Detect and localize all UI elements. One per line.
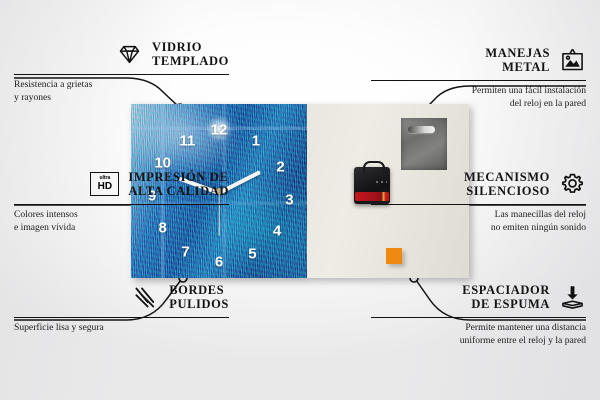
ultra-hd-icon: ultra HD (90, 172, 119, 196)
feature-title-line2: PULIDOS (169, 297, 229, 311)
clock-numeral-7: 7 (181, 244, 189, 259)
feature-bordes-pulidos: BORDES PULIDOS Superficie lisa y segura (14, 283, 229, 335)
feature-title-line2: TEMPLADO (152, 54, 229, 68)
feature-sub-line2: y rayones (14, 92, 229, 105)
divider (371, 204, 586, 206)
clock-numeral-5: 5 (248, 246, 256, 261)
clock-numeral-2: 2 (276, 159, 284, 174)
feature-title-line1: ESPACIADOR (462, 283, 550, 297)
feature-sub-line1: Permiten una fácil instalación (371, 85, 586, 98)
feature-sub-line2: del reloj en la pared (371, 98, 586, 111)
feature-title-line2: ALTA CALIDAD (128, 184, 229, 198)
picture-frame-icon (559, 47, 586, 74)
divider (371, 317, 586, 319)
feature-title-line1: MANEJAS (485, 46, 550, 60)
clock-numeral-4: 4 (273, 224, 281, 239)
feature-sub-line1: Colores intensos (14, 209, 229, 222)
feature-sub-line1: Permite mantener una distancia (371, 322, 586, 335)
feature-sub-line1: Resistencia a grietas (14, 79, 229, 92)
feature-title-line1: MECANISMO (464, 170, 550, 184)
divider (14, 317, 229, 319)
feature-espaciador-de-espuma: ESPACIADOR DE ESPUMA Permite mantener un… (371, 283, 586, 348)
feature-sub-line2: uniforme entre el reloj y la pared (371, 335, 586, 348)
diamond-icon (116, 41, 143, 68)
feature-sub-line1: Superficie lisa y segura (14, 322, 229, 335)
divider (371, 80, 586, 82)
clock-numeral-3: 3 (285, 192, 293, 207)
feature-sub-line2: e imagen vívida (14, 222, 229, 235)
feature-title-line1: IMPRESIÓN DE (128, 170, 229, 184)
feature-vidrio-templado: VIDRIO TEMPLADO Resistencia a grietas y … (14, 40, 229, 105)
feature-title-line2: SILENCIOSO (464, 184, 550, 198)
feature-title-line2: DE ESPUMA (462, 297, 550, 311)
metal-hanger-plate (401, 118, 447, 170)
clock-numeral-6: 6 (215, 255, 223, 270)
foam-spacer (386, 248, 402, 264)
feature-title-line2: METAL (485, 60, 550, 74)
clock-numeral-10: 10 (154, 156, 171, 171)
infographic-canvas: 12 1 2 3 4 5 6 7 8 9 10 11 (0, 0, 600, 400)
divider (14, 204, 229, 206)
clock-numeral-12: 12 (211, 123, 228, 138)
clock-numeral-11: 11 (179, 133, 195, 148)
feature-title-line1: VIDRIO (152, 40, 229, 54)
feature-sub-line2: no emiten ningún sonido (371, 222, 586, 235)
feature-sub-line1: Las manecillas del reloj (371, 209, 586, 222)
clock-numeral-1: 1 (252, 133, 260, 148)
feature-mecanismo-silencioso: MECANISMO SILENCIOSO Las manecillas del … (371, 170, 586, 235)
feature-title-line1: BORDES (169, 283, 229, 297)
gear-icon (559, 171, 586, 198)
feature-manejas-metal: MANEJAS METAL Permiten una fácil instala… (371, 46, 586, 111)
hanger-slot (408, 126, 435, 133)
divider (14, 74, 229, 76)
down-arrow-pad-icon (559, 284, 586, 311)
feature-impresion-alta-calidad: ultra HD IMPRESIÓN DE ALTA CALIDAD Color… (14, 170, 229, 235)
diagonal-lines-icon (133, 284, 160, 311)
ultra-hd-large-text: HD (98, 182, 112, 192)
